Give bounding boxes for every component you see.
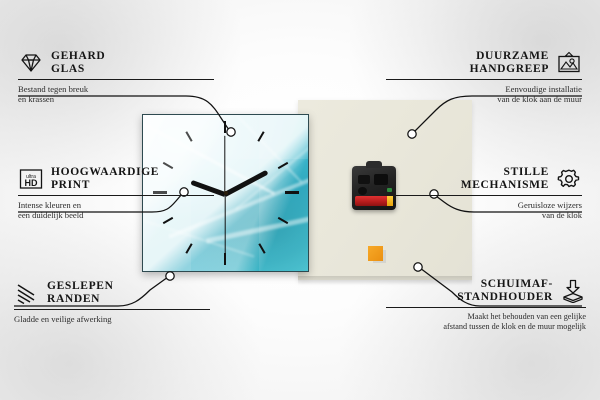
infographic-canvas: GEHARD GLAS Bestand tegen breuk en krass… [0, 0, 600, 400]
gear-icon [556, 167, 582, 191]
feature-duurzame-handgreep: DUURZAME HANDGREEP Eenvoudige installati… [386, 50, 582, 105]
picture-frame-icon [556, 51, 582, 75]
feature-description: Maakt het behouden van een gelijke afsta… [386, 312, 586, 333]
feature-description: Eenvoudige installatie van de klok aan d… [386, 84, 582, 105]
svg-text:HD: HD [25, 178, 38, 188]
feature-description: Gladde en veilige afwerking [14, 314, 210, 324]
feature-description: Intense kleuren en een duidelijk beeld [18, 200, 214, 221]
feature-title: STILLE MECHANISME [461, 166, 549, 192]
feature-gehard-glas: GEHARD GLAS Bestand tegen breuk en krass… [18, 50, 214, 105]
feature-title: HOOGWAARDIGE PRINT [51, 166, 159, 192]
feature-description: Bestand tegen breuk en krassen [18, 84, 214, 105]
feature-hoogwaardige-print: ultra HD HOOGWAARDIGE PRINT Intense kleu… [18, 166, 214, 221]
feature-title: GEHARD GLAS [51, 50, 105, 76]
divider [386, 307, 586, 308]
second-hand-tail [224, 136, 225, 194]
beveled-edges-icon [14, 281, 40, 305]
feature-title: SCHUIMAF- STANDHOUDER [457, 278, 553, 304]
hour-marker [278, 217, 289, 224]
divider [18, 195, 214, 196]
clock-center-pin [224, 191, 228, 195]
foam-spacer-pad [368, 246, 383, 261]
hour-marker [257, 131, 264, 142]
hour-marker [185, 131, 192, 142]
minute-hand [224, 170, 269, 197]
feature-description: Geruisloze wijzers van de klok [386, 200, 582, 221]
feature-schuimaf-standhouder: SCHUIMAF- STANDHOUDER Maakt het behouden… [386, 278, 586, 333]
divider [18, 79, 214, 80]
mechanism-hanger-tab [366, 161, 382, 168]
second-hand [224, 194, 225, 256]
hour-marker [258, 243, 265, 254]
feature-title: GESLEPEN RANDEN [47, 280, 114, 306]
hour-marker [185, 243, 192, 254]
divider [386, 79, 582, 80]
feature-stille-mechanisme: STILLE MECHANISME Geruisloze wijzers van… [386, 166, 582, 221]
feature-title: DUURZAME HANDGREEP [470, 50, 549, 76]
divider [14, 309, 210, 310]
hour-marker [224, 121, 226, 133]
ultra-hd-icon: ultra HD [18, 167, 44, 191]
diamond-icon [18, 51, 44, 75]
feature-geslepen-randen: GESLEPEN RANDEN Gladde en veilige afwerk… [14, 280, 210, 324]
press-down-pad-icon [560, 279, 586, 303]
hour-marker [285, 191, 299, 194]
divider [386, 195, 582, 196]
hour-marker [278, 162, 289, 169]
